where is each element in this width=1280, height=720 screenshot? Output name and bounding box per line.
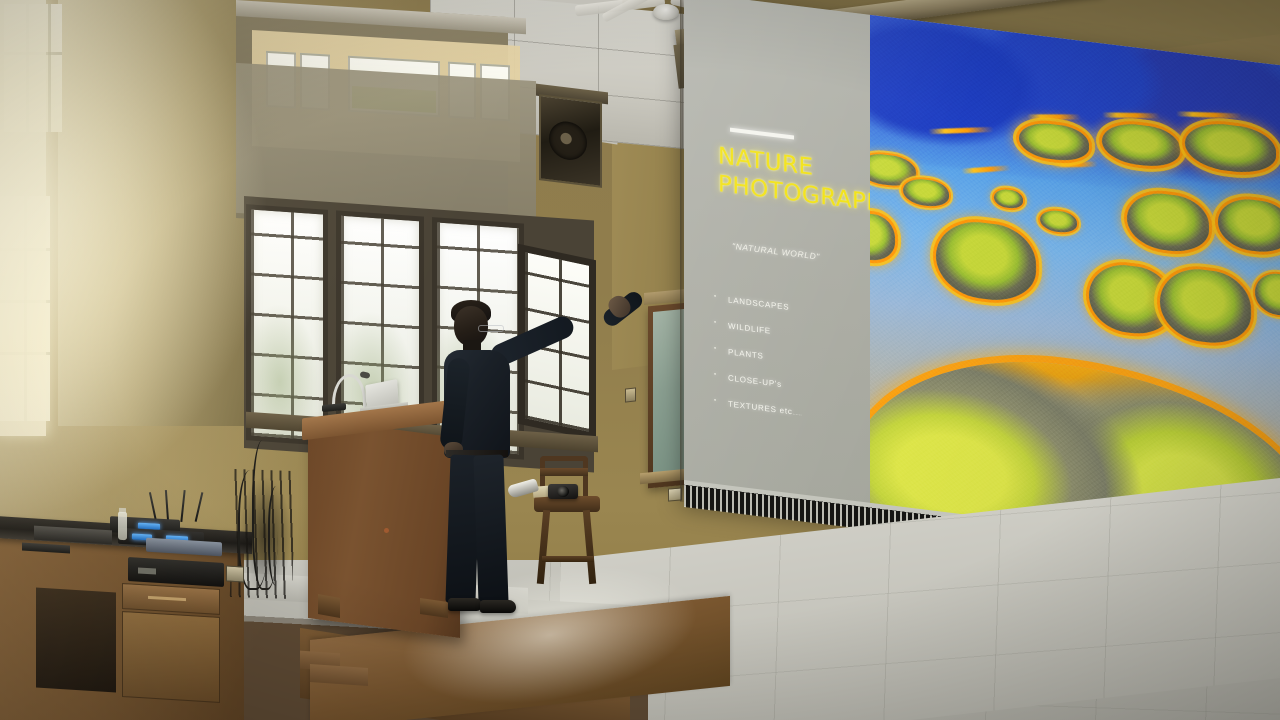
- lectern-knob: [384, 528, 389, 533]
- list-item: CLOSE-UP's: [714, 372, 884, 402]
- slide-title: NATURE PHOTOGRAPHY: [718, 142, 878, 218]
- roller-blind-far-left[interactable]: [0, 0, 46, 436]
- desk-cabinet-door[interactable]: [122, 611, 220, 703]
- media-player-display: [138, 567, 156, 574]
- bullet-label: WILDLIFE: [728, 321, 771, 335]
- bullet-label: TEXTURES etc: [728, 399, 793, 416]
- presenter: [430, 300, 610, 620]
- window-pane-left: [246, 204, 328, 446]
- list-item: PLANTS: [714, 346, 884, 376]
- bullet-label: LANDSCAPES: [728, 295, 789, 312]
- presenter-leg: [473, 455, 508, 606]
- presenter-shoe-sole: [507, 478, 539, 499]
- presenter-shoe: [448, 598, 482, 611]
- ceiling-fan-icon: [653, 4, 679, 20]
- eyeglasses-icon: [478, 325, 504, 332]
- slide-bullet-list: LANDSCAPES WILDLIFE PLANTS CLOSE-UP's TE…: [714, 294, 884, 445]
- list-item: TEXTURES etc......: [714, 398, 884, 428]
- list-item: WILDLIFE: [714, 320, 884, 350]
- slide-subtitle: "NATURAL WORLD": [732, 241, 820, 262]
- list-item: LANDSCAPES: [714, 294, 884, 324]
- lectern-foot: [318, 594, 340, 618]
- slide-text-column: NATURE PHOTOGRAPHY "NATURAL WORLD" LANDS…: [684, 0, 874, 525]
- bullet-label: CLOSE-UP's: [728, 373, 782, 389]
- presenter-shoe: [480, 600, 516, 613]
- bullet-label: PLANTS: [728, 347, 764, 360]
- slide-title-underline: [730, 128, 794, 140]
- water-bottle: [118, 512, 127, 540]
- power-socket-box[interactable]: [226, 565, 244, 582]
- wall-switch-icon[interactable]: [625, 387, 636, 402]
- cable: [268, 486, 288, 586]
- desk-open-compartment: [36, 588, 116, 693]
- classroom-scene: NATURE PHOTOGRAPHY "NATURAL WORLD" LANDS…: [0, 0, 1280, 720]
- presenter-legs: [446, 455, 508, 605]
- exhaust-fan-icon: [539, 94, 602, 188]
- wall-pier-left: [58, 0, 246, 426]
- bullet-tail: ......: [793, 410, 802, 417]
